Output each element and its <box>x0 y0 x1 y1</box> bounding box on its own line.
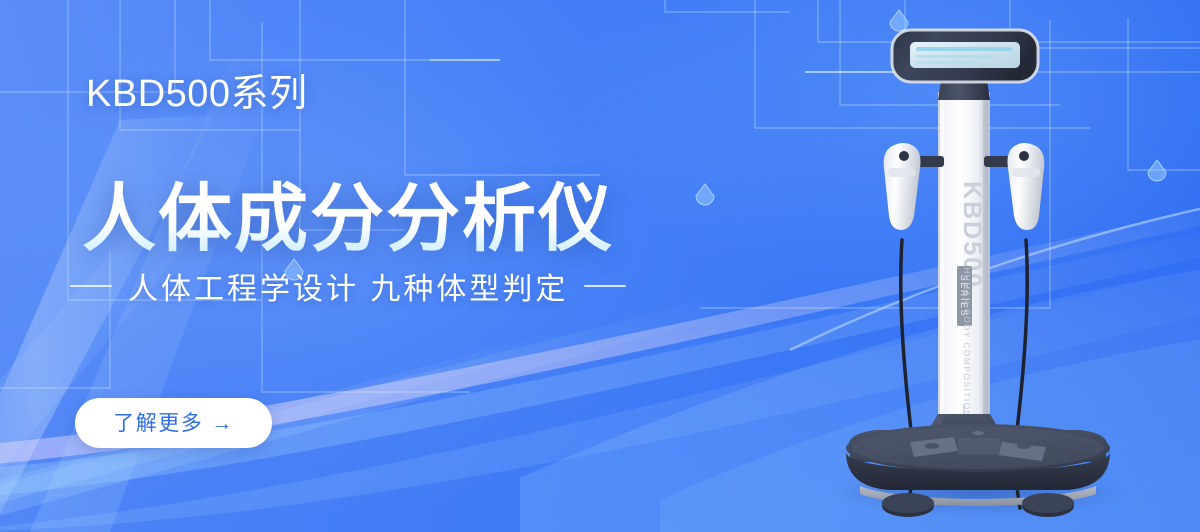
product-series-label: KBD500系列 <box>86 73 308 117</box>
device-display-head <box>892 30 1038 82</box>
learn-more-button[interactable]: 了解更多 → <box>75 398 272 448</box>
device-illustration: KBD500 SERIES HUMAN BODY COMPOSITION ANA… <box>780 0 1200 532</box>
subtitle-dash-right <box>584 285 626 287</box>
subtitle-dash-left <box>70 285 112 287</box>
subtitle-text: 人体工程学设计 九种体型判定 <box>128 264 568 308</box>
learn-more-label: 了解更多 <box>113 413 203 434</box>
hero-banner: KBD500 SERIES HUMAN BODY COMPOSITION ANA… <box>0 0 1200 532</box>
page-title: 人体成分分析仪 <box>82 178 614 261</box>
device-base-platform <box>846 424 1110 517</box>
arrow-right-icon: → <box>211 413 234 434</box>
subtitle-row: 人体工程学设计 九种体型判定 <box>70 264 626 308</box>
hero-text-block: KBD500系列 人体成分分析仪 人体工程学设计 九种体型判定 了解更多 → <box>0 0 760 532</box>
